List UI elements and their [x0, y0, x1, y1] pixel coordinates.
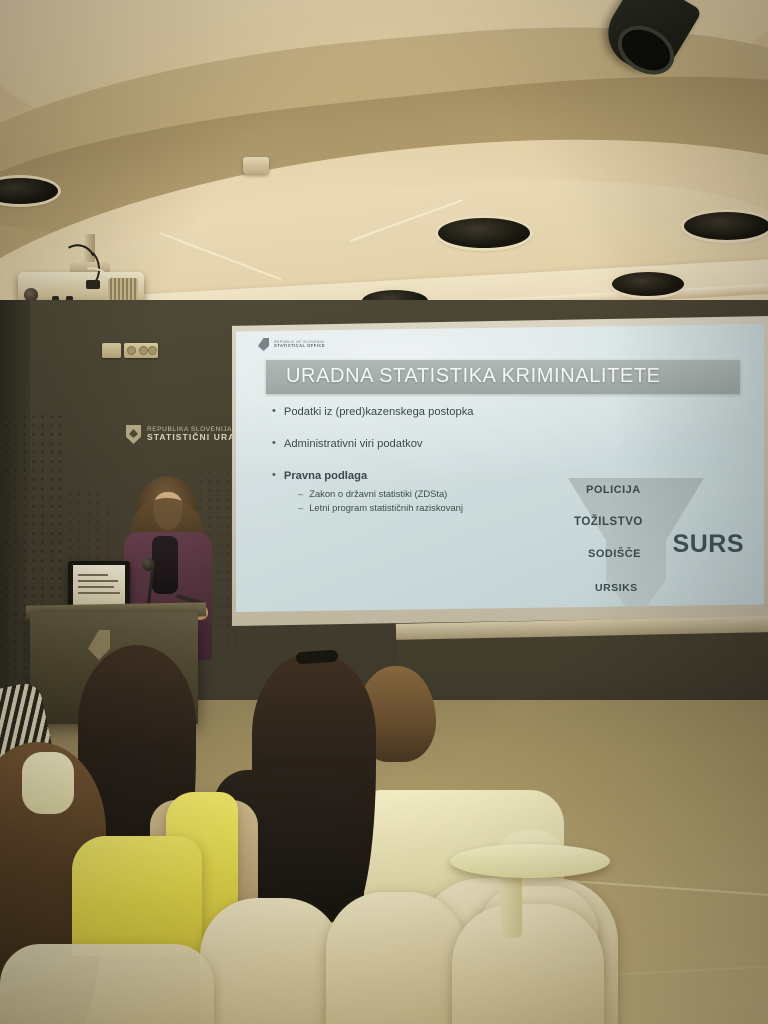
auditorium-seat[interactable]	[200, 898, 342, 1024]
monitor-text-line	[78, 580, 118, 582]
podium-monitor-screen	[73, 565, 125, 605]
bullet-marker-icon: •	[272, 438, 276, 450]
auditorium-seat[interactable]	[0, 944, 214, 1024]
presenter-top	[152, 536, 178, 594]
wall-sign-line2: STATISTIČNI URAD	[147, 433, 243, 443]
monitor-text-line	[78, 574, 108, 576]
funnel-stage-tozilstvo: TOŽILSTVO	[574, 516, 643, 528]
slide-bullet-text: Pravna podlaga	[284, 470, 367, 482]
slide-bullet-text: Administrativni viri podatkov	[284, 438, 423, 450]
auditorium-seat-yellow[interactable]	[72, 836, 202, 956]
ceiling-downlight	[684, 212, 768, 240]
ceiling-downlight	[612, 272, 684, 296]
presentation-slide: REPUBLIC OF SLOVENIA STATISTICAL OFFICE …	[236, 324, 764, 612]
statistical-office-crest-icon	[258, 338, 269, 351]
side-table[interactable]	[450, 844, 610, 878]
slide-title: URADNA STATISTIKA KRIMINALITETE	[286, 365, 728, 388]
slide-logo-line2: STATISTICAL OFFICE	[274, 344, 325, 349]
slide-logo: REPUBLIC OF SLOVENIA STATISTICAL OFFICE	[258, 338, 746, 351]
subitem-marker-icon: –	[298, 502, 303, 513]
subitem-marker-icon: –	[298, 488, 303, 499]
funnel-stage-sodisce: SODIŠČE	[588, 548, 641, 560]
funnel-stage-ursiks: URSIKS	[595, 582, 638, 594]
auditorium-seat[interactable]	[452, 904, 604, 1024]
wall-socket[interactable]	[124, 343, 158, 358]
slide-funnel-diagram: POLICIJA TOŽILSTVO SODIŠČE URSIKS SURS	[550, 478, 740, 612]
ceiling-downlight	[438, 218, 530, 248]
wall-signage: REPUBLIKA SLOVENIJA STATISTIČNI URAD	[126, 425, 243, 444]
bullet-marker-icon: •	[272, 470, 276, 482]
slide-subitem-text: Zakon o državni statistiki (ZDSta)	[309, 488, 447, 499]
slide-subitem-text: Letni program statističnih raziskovanj	[309, 502, 463, 513]
audience-member-sleeve	[22, 752, 74, 814]
wall-socket[interactable]	[102, 343, 121, 358]
slide-title-bar: URADNA STATISTIKA KRIMINALITETE	[266, 360, 740, 394]
slide-bullet-text: Podatki iz (pred)kazenskega postopka	[284, 406, 474, 418]
auditorium-seat[interactable]	[326, 892, 466, 1024]
photo-scene: REPUBLIKA SLOVENIJA STATISTIČNI URAD REP…	[0, 0, 768, 1024]
slide-bullet: • Podatki iz (pred)kazenskega postopka	[272, 406, 746, 418]
monitor-text-line	[78, 586, 114, 588]
slovenia-coat-of-arms-icon	[126, 425, 141, 444]
slide-body: • Podatki iz (pred)kazenskega postopka •…	[258, 406, 746, 513]
projection-screen: REPUBLIC OF SLOVENIA STATISTICAL OFFICE …	[232, 316, 768, 626]
smoke-detector	[243, 157, 269, 174]
funnel-output-surs: SURS	[673, 530, 744, 559]
screen-surface: REPUBLIC OF SLOVENIA STATISTICAL OFFICE …	[236, 324, 764, 612]
slide-bullet: • Administrativni viri podatkov	[272, 438, 746, 450]
funnel-stage-policija: POLICIJA	[586, 484, 641, 496]
monitor-text-line	[78, 592, 120, 594]
bullet-marker-icon: •	[272, 406, 276, 418]
